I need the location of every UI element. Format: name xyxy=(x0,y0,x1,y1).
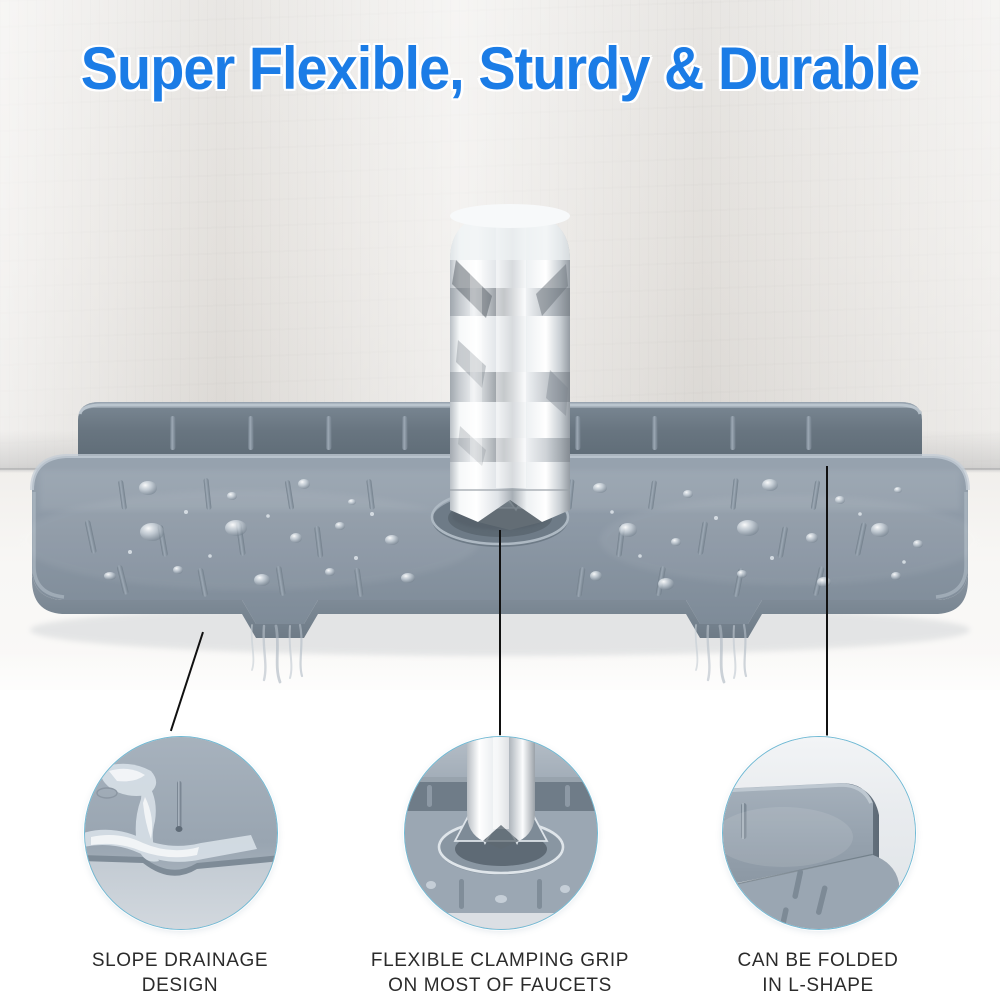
page-title: Super Flexible, Sturdy & Durable xyxy=(35,34,965,103)
leader-line-right xyxy=(826,466,828,736)
callout-circle-l-shape-fold[interactable] xyxy=(722,736,916,930)
caption-l-shape-fold: CAN BE FOLDED IN L-SHAPE xyxy=(668,948,968,998)
caption-clamping-grip: FLEXIBLE CLAMPING GRIP ON MOST OF FAUCET… xyxy=(350,948,650,998)
product-marketing-image: Super Flexible, Sturdy & Durable xyxy=(0,0,1000,1000)
callout-circle-clamping-grip[interactable] xyxy=(404,736,598,930)
callout-circle-slope-drainage[interactable] xyxy=(84,736,278,930)
leader-line-center xyxy=(499,530,501,736)
caption-slope-drainage: SLOPE DRAINAGE DESIGN xyxy=(30,948,330,998)
faucet-body xyxy=(400,190,620,530)
